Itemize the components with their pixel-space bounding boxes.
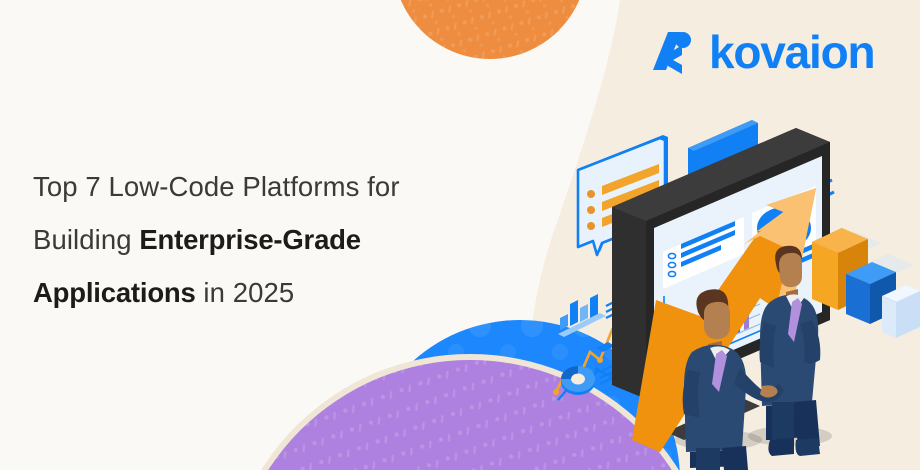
- bar-chart-3d: [812, 228, 920, 338]
- headline-line-2-plain: Building: [33, 224, 139, 255]
- headline: Top 7 Low-Code Platforms for Building En…: [33, 160, 503, 319]
- blog-banner: 60%: [0, 0, 920, 470]
- kovaion-logo[interactable]: kovaion: [648, 28, 874, 76]
- headline-line-1: Top 7 Low-Code Platforms for: [33, 160, 503, 213]
- kovaion-wordmark: kovaion: [709, 29, 874, 75]
- headline-line-3-plain: in 2025: [196, 277, 295, 308]
- headline-line-2: Building Enterprise-Grade: [33, 213, 503, 266]
- headline-line-2-bold: Enterprise-Grade: [139, 224, 360, 255]
- kovaion-k-mark-icon: [648, 28, 696, 76]
- headline-line-3: Applications in 2025: [33, 266, 503, 319]
- headline-line-3-bold: Applications: [33, 277, 196, 308]
